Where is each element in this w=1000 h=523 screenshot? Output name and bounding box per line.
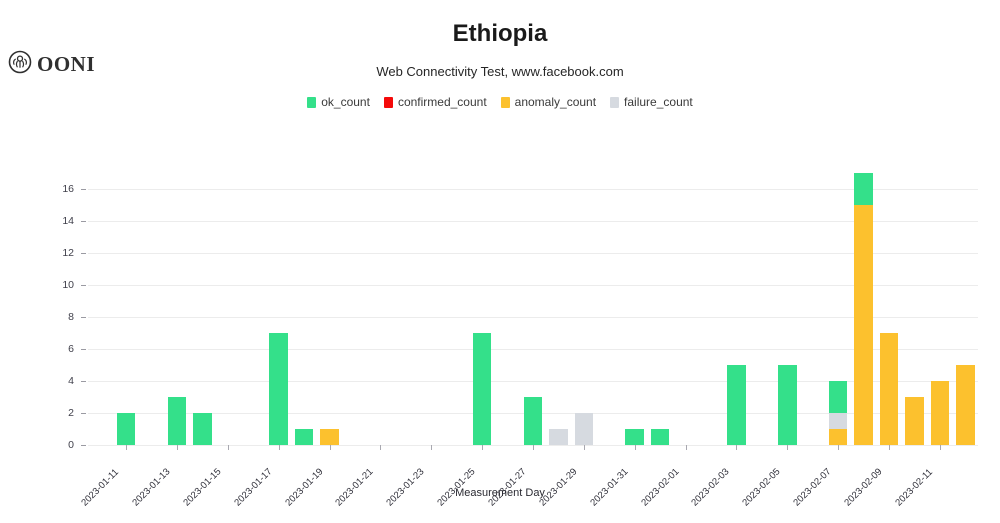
- bar-2023-01-29[interactable]: [575, 413, 594, 445]
- y-axis-tick-mark: [81, 413, 86, 414]
- x-axis-tick-mark: [482, 445, 483, 450]
- x-axis-tick-mark: [177, 445, 178, 450]
- bar-2023-01-17[interactable]: [269, 333, 288, 445]
- bar-segment-failure-count: [829, 413, 848, 429]
- y-axis-tick-label: 16: [48, 183, 74, 195]
- bar-2023-01-27[interactable]: [524, 397, 543, 445]
- bar-segment-ok-count: [117, 413, 136, 445]
- legend-label: confirmed_count: [398, 95, 487, 109]
- bar-segment-ok-count: [829, 381, 848, 413]
- x-axis-tick-mark: [126, 445, 127, 450]
- bar-segment-ok-count: [625, 429, 644, 445]
- y-axis-tick-label: 8: [48, 311, 74, 323]
- bar-segment-ok-count: [193, 413, 212, 445]
- bar-2023-02-13[interactable]: [956, 365, 975, 445]
- bar-2023-02-11[interactable]: [905, 397, 924, 445]
- bar-2023-02-01[interactable]: [651, 429, 670, 445]
- legend-label: anomaly_count: [515, 95, 596, 109]
- gridline: [88, 317, 978, 318]
- bar-segment-ok-count: [269, 333, 288, 445]
- y-axis-tick-label: 12: [48, 247, 74, 259]
- bar-segment-anomaly-count: [931, 381, 950, 445]
- bar-2023-01-19[interactable]: [320, 429, 339, 445]
- chart-title: Ethiopia: [0, 20, 1000, 48]
- legend-swatch-confirmed-count-icon: [384, 97, 393, 108]
- x-axis-tick-mark: [431, 445, 432, 450]
- chart-subtitle: Web Connectivity Test, www.facebook.com: [0, 64, 1000, 79]
- bar-2023-01-18[interactable]: [295, 429, 314, 445]
- gridline: [88, 253, 978, 254]
- bar-2023-02-08[interactable]: [829, 381, 848, 445]
- bar-segment-ok-count: [168, 397, 187, 445]
- bar-segment-failure-count: [575, 413, 594, 445]
- x-axis-tick-mark: [330, 445, 331, 450]
- bar-segment-failure-count: [549, 429, 568, 445]
- bar-2023-01-13[interactable]: [168, 397, 187, 445]
- legend-swatch-anomaly-count-icon: [501, 97, 510, 108]
- bar-segment-anomaly-count: [880, 333, 899, 445]
- bar-segment-ok-count: [524, 397, 543, 445]
- y-axis-tick-mark: [81, 349, 86, 350]
- y-axis-tick-mark: [81, 445, 86, 446]
- y-axis-tick-mark: [81, 221, 86, 222]
- y-axis-tick-mark: [81, 381, 86, 382]
- bar-segment-ok-count: [473, 333, 492, 445]
- bar-segment-ok-count: [778, 365, 797, 445]
- bar-segment-anomaly-count: [829, 429, 848, 445]
- x-axis-tick-mark: [838, 445, 839, 450]
- x-axis-tick-mark: [787, 445, 788, 450]
- y-axis-tick-label: 10: [48, 279, 74, 291]
- y-axis-tick-label: 4: [48, 375, 74, 387]
- y-axis-tick-mark: [81, 285, 86, 286]
- x-axis-tick-mark: [736, 445, 737, 450]
- bar-2023-01-28[interactable]: [549, 429, 568, 445]
- legend-swatch-ok-count-icon: [307, 97, 316, 108]
- x-axis-tick-mark: [380, 445, 381, 450]
- chart-legend: ok_countconfirmed_countanomaly_countfail…: [0, 95, 1000, 109]
- bar-2023-01-14[interactable]: [193, 413, 212, 445]
- x-axis-tick-mark: [686, 445, 687, 450]
- x-axis-tick-mark: [228, 445, 229, 450]
- bar-segment-anomaly-count: [320, 429, 339, 445]
- bar-segment-ok-count: [295, 429, 314, 445]
- bar-segment-anomaly-count: [854, 205, 873, 445]
- bar-segment-ok-count: [854, 173, 873, 205]
- y-axis-tick-label: 14: [48, 215, 74, 227]
- legend-swatch-failure-count-icon: [610, 97, 619, 108]
- bar-2023-02-12[interactable]: [931, 381, 950, 445]
- bar-2023-01-11[interactable]: [117, 413, 136, 445]
- gridline: [88, 285, 978, 286]
- gridline: [88, 221, 978, 222]
- x-axis-tick-mark: [584, 445, 585, 450]
- legend-item-ok-count[interactable]: ok_count: [307, 95, 370, 109]
- bar-segment-ok-count: [651, 429, 670, 445]
- plot-area: 02468101214162023-01-112023-01-132023-01…: [88, 173, 978, 445]
- y-axis-tick-label: 2: [48, 407, 74, 419]
- bar-segment-ok-count: [727, 365, 746, 445]
- y-axis-tick-mark: [81, 189, 86, 190]
- y-axis-tick-mark: [81, 253, 86, 254]
- y-axis-tick-mark: [81, 317, 86, 318]
- gridline: [88, 349, 978, 350]
- bar-2023-02-09[interactable]: [854, 173, 873, 445]
- bar-segment-anomaly-count: [905, 397, 924, 445]
- bar-2023-02-10[interactable]: [880, 333, 899, 445]
- legend-item-failure-count[interactable]: failure_count: [610, 95, 693, 109]
- legend-item-confirmed-count[interactable]: confirmed_count: [384, 95, 487, 109]
- chart-container: OONI Ethiopia Web Connectivity Test, www…: [0, 0, 1000, 523]
- y-axis-tick-label: 0: [48, 439, 74, 451]
- x-axis-tick-mark: [940, 445, 941, 450]
- legend-label: ok_count: [321, 95, 370, 109]
- x-axis-title: Measurement Day: [0, 487, 1000, 499]
- bar-2023-02-04[interactable]: [727, 365, 746, 445]
- bar-segment-anomaly-count: [956, 365, 975, 445]
- legend-item-anomaly-count[interactable]: anomaly_count: [501, 95, 596, 109]
- y-axis-tick-label: 6: [48, 343, 74, 355]
- x-axis-tick-mark: [635, 445, 636, 450]
- gridline: [88, 189, 978, 190]
- x-axis-tick-mark: [533, 445, 534, 450]
- bar-2023-01-25[interactable]: [473, 333, 492, 445]
- x-axis-tick-mark: [889, 445, 890, 450]
- legend-label: failure_count: [624, 95, 693, 109]
- x-axis-tick-mark: [279, 445, 280, 450]
- bar-2023-01-31[interactable]: [625, 429, 644, 445]
- bar-2023-02-06[interactable]: [778, 365, 797, 445]
